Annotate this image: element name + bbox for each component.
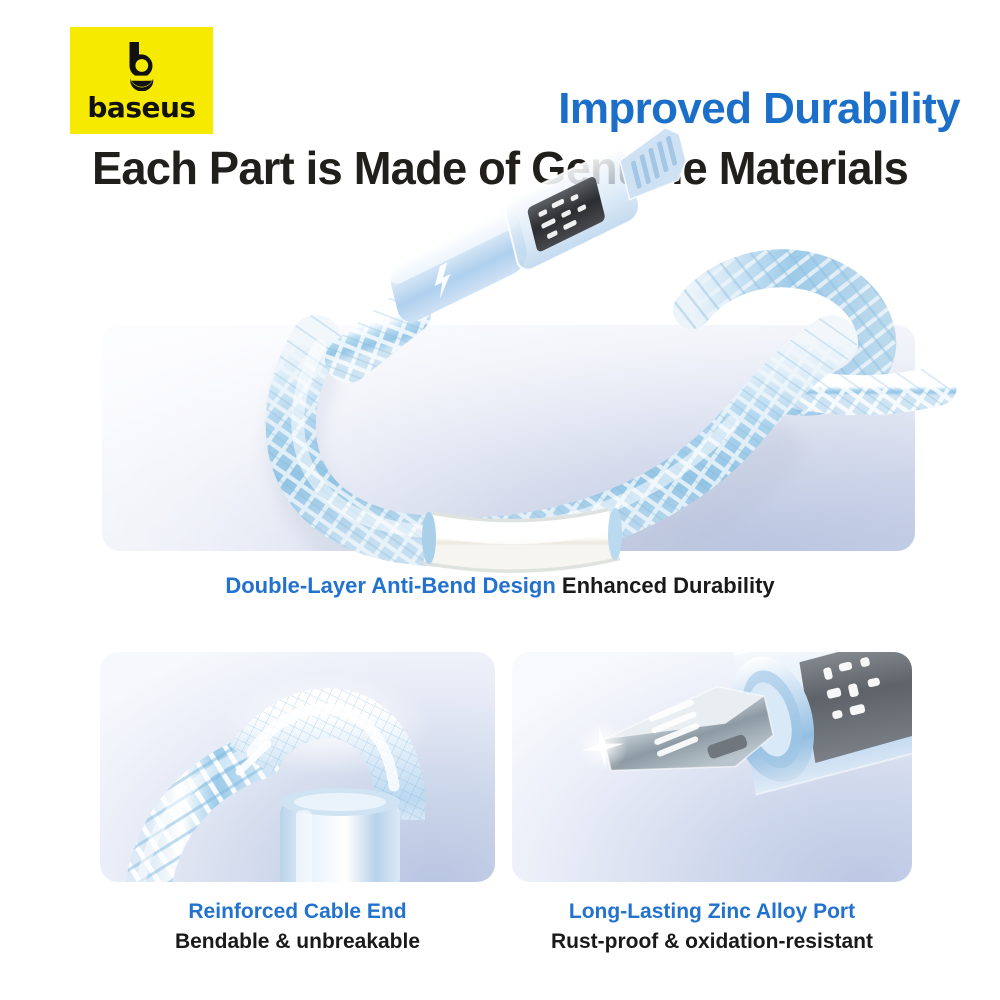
reinforced-cable-end-panel [100,652,495,882]
lightning-bolt-emblem [431,262,455,299]
feature-title: Reinforced Cable End [100,898,495,926]
page-title: Each Part is Made of Genuine Materials [8,144,993,192]
zinc-alloy-port-illustration [512,652,912,882]
baseus-b-monogram-icon [115,37,169,91]
hero-caption-rest: Enhanced Durability [562,573,775,598]
zinc-alloy-port-caption: Long-Lasting Zinc Alloy Port Rust-proof … [512,898,912,956]
reinforced-cable-end-illustration [100,652,495,882]
reinforced-cable-end-caption: Reinforced Cable End Bendable & unbreaka… [100,898,495,956]
hero-panel-background [102,325,915,551]
zinc-alloy-port-panel [512,652,912,882]
feature-title: Long-Lasting Zinc Alloy Port [512,898,912,926]
hero-caption-highlight: Double-Layer Anti-Bend Design [225,573,555,598]
double-layer-anti-bend-panel [102,325,915,551]
hero-caption: Double-Layer Anti-Bend Design Enhanced D… [0,572,1000,601]
feature-subtitle: Bendable & unbreakable [100,928,495,956]
feature-subtitle: Rust-proof & oxidation-resistant [512,928,912,956]
product-feature-page: baseus Improved Durability Each Part is … [0,0,1000,1000]
eyebrow-headline: Improved Durability [0,86,960,132]
